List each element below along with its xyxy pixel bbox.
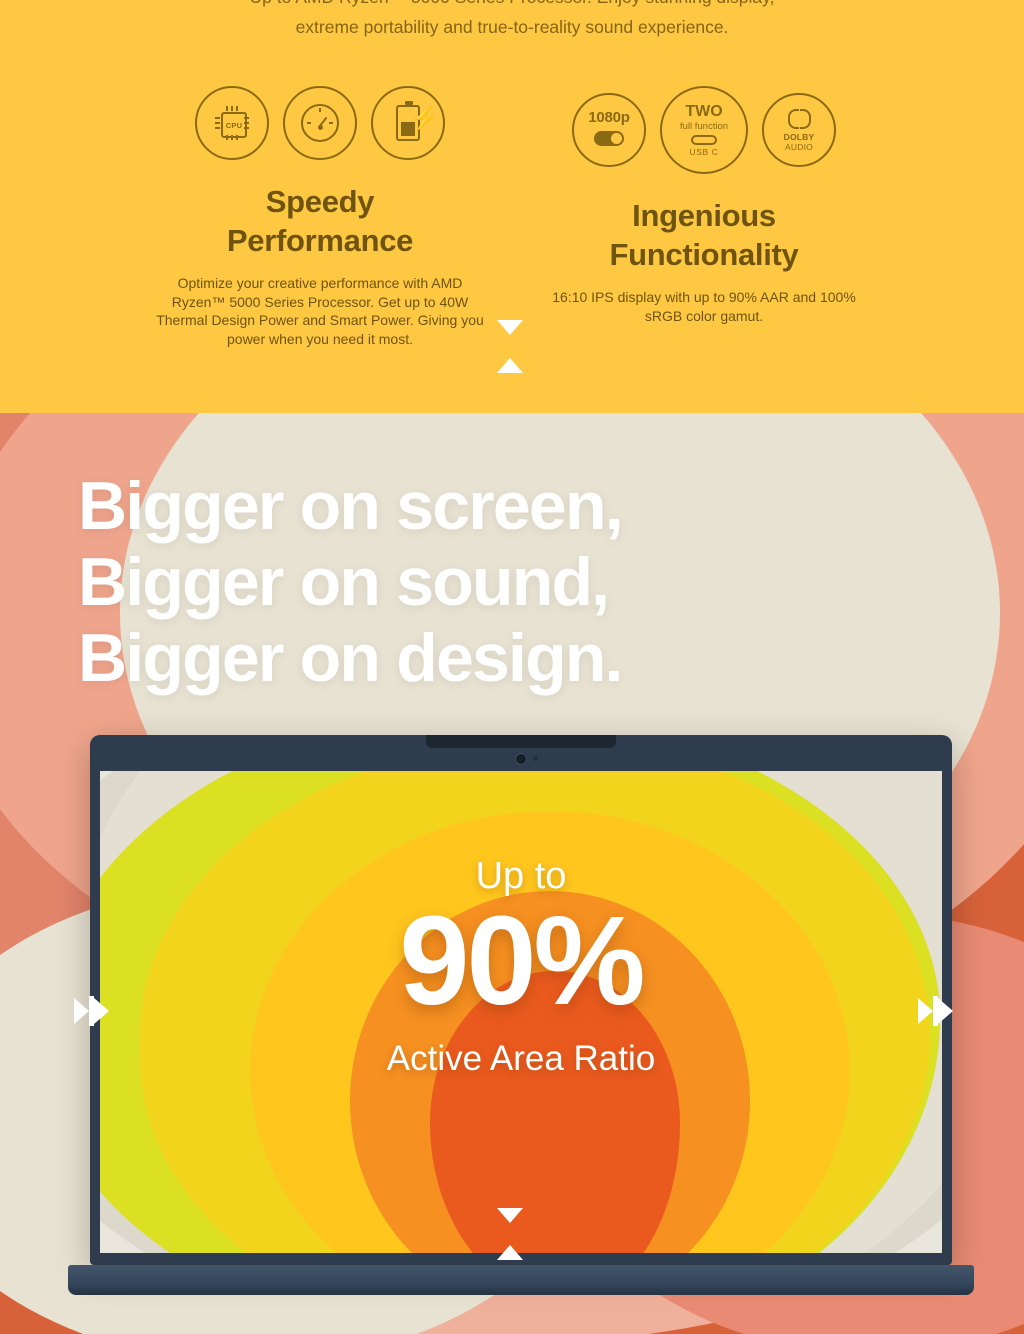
webcam-sensor-icon	[533, 756, 538, 761]
webcam-icon	[515, 753, 527, 765]
measure-marker-left	[74, 996, 109, 1026]
laptop-camera-notch	[426, 735, 616, 748]
laptop-lid: Up to 90% Active Area Ratio	[90, 735, 952, 1265]
feature-ingenious-functionality: 1080p TWO full function USB C	[545, 86, 863, 325]
battery-charge-icon: ⚡	[371, 86, 445, 160]
dolby-audio-icon: DOLBY AUDIO	[762, 93, 836, 167]
screen-percentage-value: 90%	[100, 893, 942, 1029]
camera-resolution-label: 1080p	[574, 109, 644, 126]
screen-caption: Active Area Ratio	[100, 1039, 942, 1079]
measure-marker-top-inner	[497, 358, 523, 373]
hero-headline: Bigger on screen, Bigger on sound, Bigge…	[78, 468, 622, 696]
feature-heading-line-1: Ingenious	[545, 196, 863, 235]
laptop-base	[68, 1265, 974, 1295]
intro-paragraph: Up to AMD Ryzen™ 5000 Series Processor. …	[0, 0, 1024, 42]
cpu-icon: CPU	[195, 86, 269, 160]
cpu-icon-label: CPU	[221, 112, 247, 138]
dolby-label-line-1: DOLBY	[784, 132, 815, 142]
measure-marker-bottom	[497, 1245, 523, 1260]
feature-heading: Speedy Performance	[150, 182, 490, 260]
feature-icons-row: CPU	[150, 86, 490, 160]
features-panel: Up to AMD Ryzen™ 5000 Series Processor. …	[0, 0, 1024, 413]
usb-count-label: TWO	[685, 104, 722, 120]
feature-speedy-performance: CPU	[150, 86, 490, 348]
speed-gauge-icon	[283, 86, 357, 160]
dolby-label-line-2: AUDIO	[785, 142, 813, 152]
camera-shutter-toggle-icon	[594, 131, 624, 146]
feature-heading-line-2: Functionality	[545, 235, 863, 274]
usb-c-icon: TWO full function USB C	[660, 86, 748, 174]
hero-headline-line-3: Bigger on design.	[78, 620, 622, 696]
usb-c-port-shape	[691, 135, 717, 145]
screen-text-group: Up to 90% Active Area Ratio	[100, 771, 942, 1253]
hero-headline-line-1: Bigger on screen,	[78, 468, 622, 544]
measure-marker-right	[918, 996, 953, 1026]
usb-type-label: USB C	[690, 147, 719, 157]
feature-body-text: 16:10 IPS display with up to 90% AAR and…	[545, 288, 863, 325]
measure-marker-top	[497, 320, 523, 335]
hero-section: Bigger on screen, Bigger on sound, Bigge…	[0, 413, 1024, 1334]
laptop-screen: Up to 90% Active Area Ratio	[100, 771, 942, 1253]
1080p-camera-icon: 1080p	[572, 93, 646, 167]
hero-headline-line-2: Bigger on sound,	[78, 544, 622, 620]
feature-body-text: Optimize your creative performance with …	[150, 274, 490, 348]
usb-function-label: full function	[680, 120, 728, 133]
feature-heading-line-2: Performance	[150, 221, 490, 260]
intro-line-2: extreme portability and true-to-reality …	[0, 12, 1024, 42]
product-page: Up to AMD Ryzen™ 5000 Series Processor. …	[0, 0, 1024, 1334]
measure-marker-bottom-inner	[497, 1208, 523, 1223]
feature-heading: Ingenious Functionality	[545, 196, 863, 274]
feature-icons-row: 1080p TWO full function USB C	[545, 86, 863, 174]
feature-heading-line-1: Speedy	[150, 182, 490, 221]
intro-line-1: Up to AMD Ryzen™ 5000 Series Processor. …	[0, 0, 1024, 12]
